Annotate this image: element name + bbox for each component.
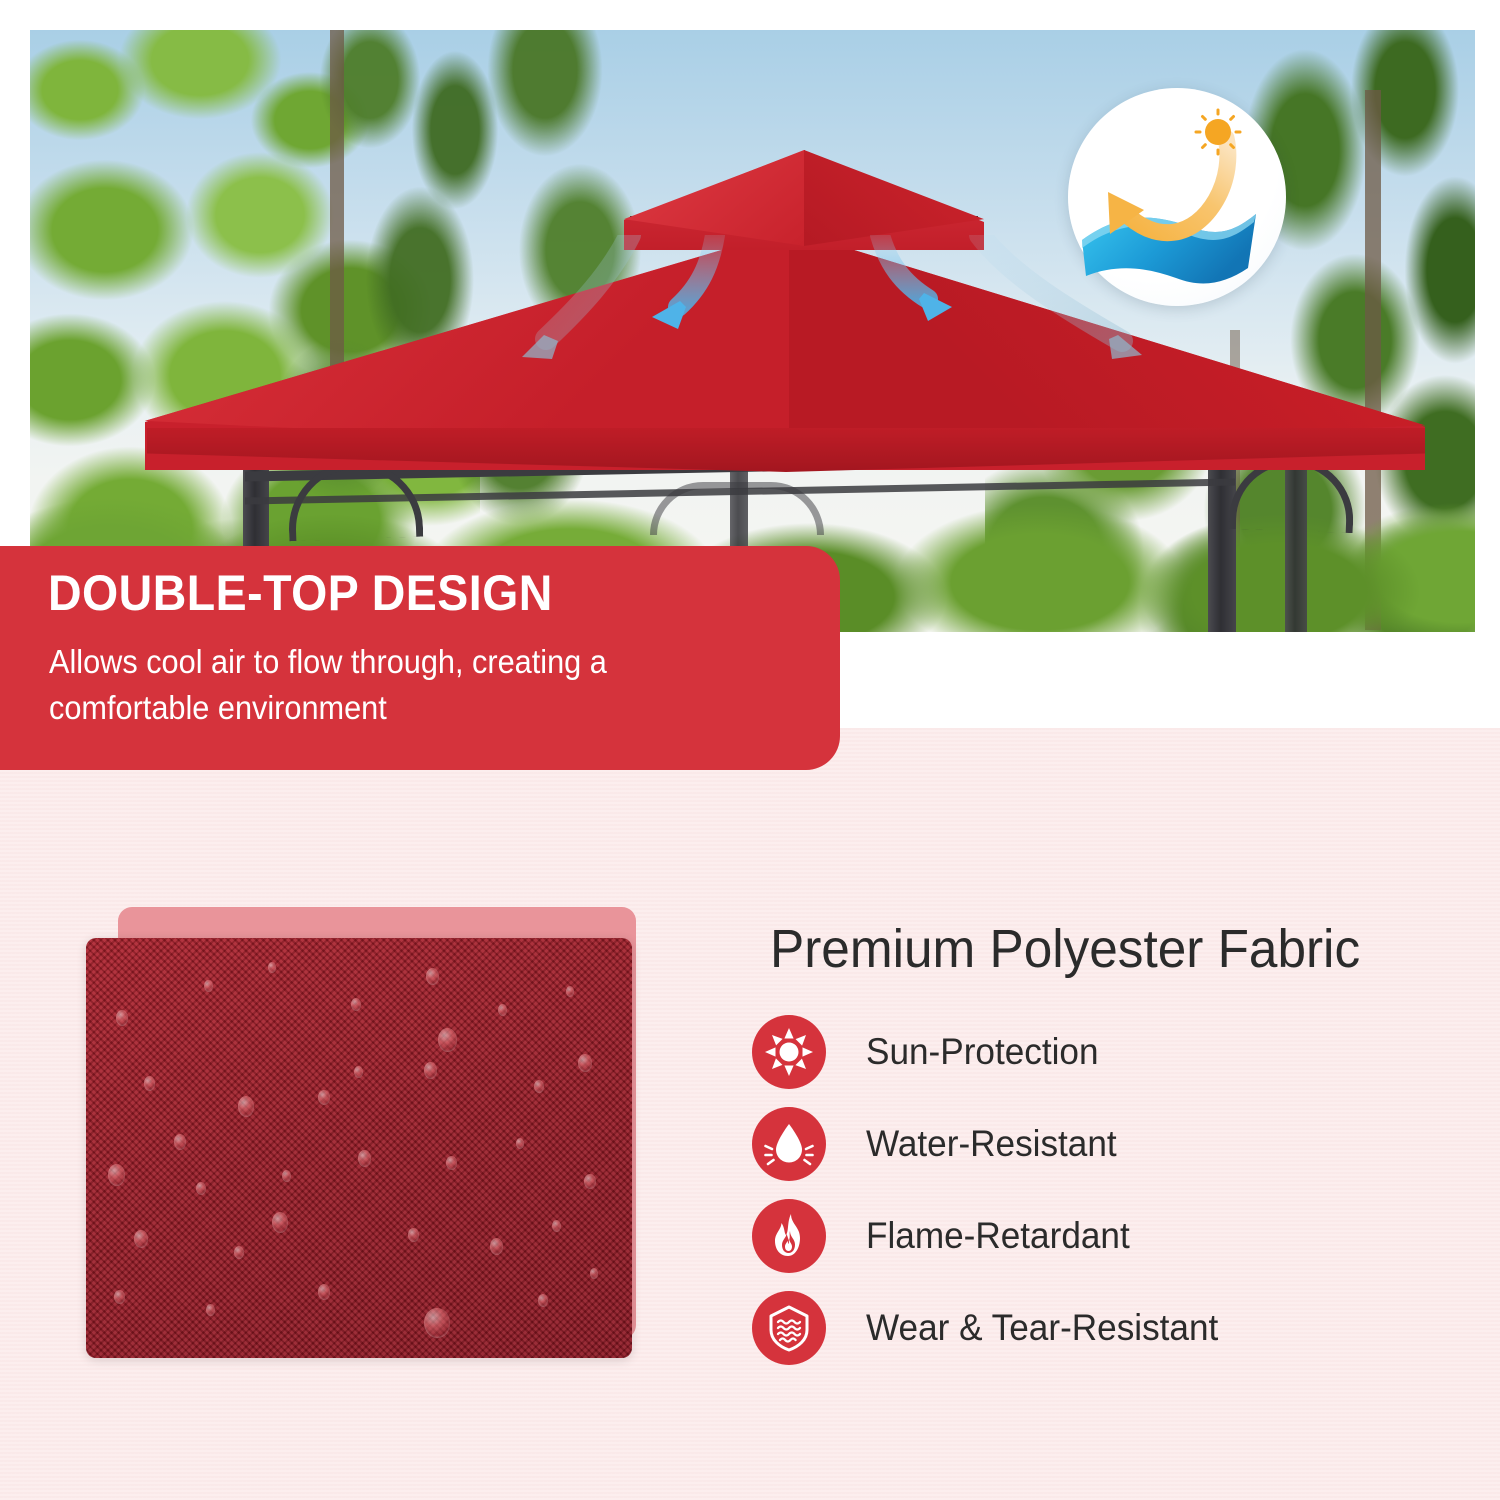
feature-label: Sun-Protection (866, 1031, 1099, 1073)
water-droplet (590, 1268, 598, 1279)
feature-row-flame-retardant: Flame-Retardant (752, 1190, 1452, 1282)
water-droplet (566, 986, 574, 997)
water-droplet (424, 1308, 450, 1338)
water-droplet (424, 1062, 437, 1079)
fabric-feature-list: Sun-Protection Water-Resistant (752, 1006, 1452, 1374)
infographic-page: DOUBLE-TOP DESIGN Allows cool air to flo… (0, 0, 1500, 1500)
water-droplet (438, 1028, 457, 1052)
water-droplet (498, 1004, 507, 1016)
water-droplet (174, 1134, 186, 1150)
water-droplet (318, 1284, 330, 1300)
water-droplet (268, 962, 276, 973)
water-droplet (516, 1138, 524, 1149)
water-droplet (351, 998, 361, 1011)
shield-icon (752, 1291, 826, 1365)
water-droplet (354, 1066, 363, 1078)
water-droplet (446, 1156, 457, 1170)
water-droplet (116, 1010, 128, 1026)
water-droplet (538, 1294, 548, 1307)
water-droplet (584, 1174, 596, 1189)
water-droplet (490, 1238, 503, 1255)
badge-graphic (1068, 88, 1286, 306)
water-droplet (534, 1080, 544, 1093)
uv-heat-deflection-badge (1068, 88, 1286, 306)
banner-title: DOUBLE-TOP DESIGN (48, 564, 553, 622)
sun-icon (1196, 110, 1240, 154)
water-droplet (144, 1076, 155, 1091)
water-droplet (196, 1182, 206, 1195)
fabric-section-title: Premium Polyester Fabric (770, 918, 1360, 980)
water-droplet (234, 1246, 244, 1259)
water-droplet (114, 1290, 125, 1304)
feature-row-wear-tear-resistant: Wear & Tear-Resistant (752, 1282, 1452, 1374)
water-droplet (108, 1164, 125, 1186)
water-droplet (358, 1150, 371, 1167)
feature-row-water-resistant: Water-Resistant (752, 1098, 1452, 1190)
feature-label: Flame-Retardant (866, 1215, 1130, 1257)
water-droplet (408, 1228, 419, 1242)
fabric-swatch-front-layer (86, 938, 632, 1358)
water-droplet (204, 980, 213, 992)
gazebo-hero-photo (30, 30, 1475, 632)
water-droplet (238, 1096, 254, 1117)
gazebo-arch-bracket (650, 482, 824, 535)
feature-label: Water-Resistant (866, 1123, 1117, 1165)
water-droplet (282, 1170, 291, 1182)
water-droplet (426, 968, 439, 985)
heat-flow-arrow (1124, 138, 1228, 233)
water-drop-icon (752, 1107, 826, 1181)
double-top-design-banner: DOUBLE-TOP DESIGN Allows cool air to flo… (0, 546, 840, 770)
flame-icon (752, 1199, 826, 1273)
water-droplet (552, 1220, 561, 1232)
water-droplet (134, 1230, 148, 1248)
banner-subtitle: Allows cool air to flow through, creatin… (49, 639, 756, 730)
water-droplet (578, 1054, 592, 1072)
sun-icon (752, 1015, 826, 1089)
water-droplet (206, 1304, 215, 1316)
water-droplet (272, 1212, 288, 1233)
feature-row-sun-protection: Sun-Protection (752, 1006, 1452, 1098)
feature-label: Wear & Tear-Resistant (866, 1307, 1218, 1349)
water-droplet (318, 1090, 330, 1105)
